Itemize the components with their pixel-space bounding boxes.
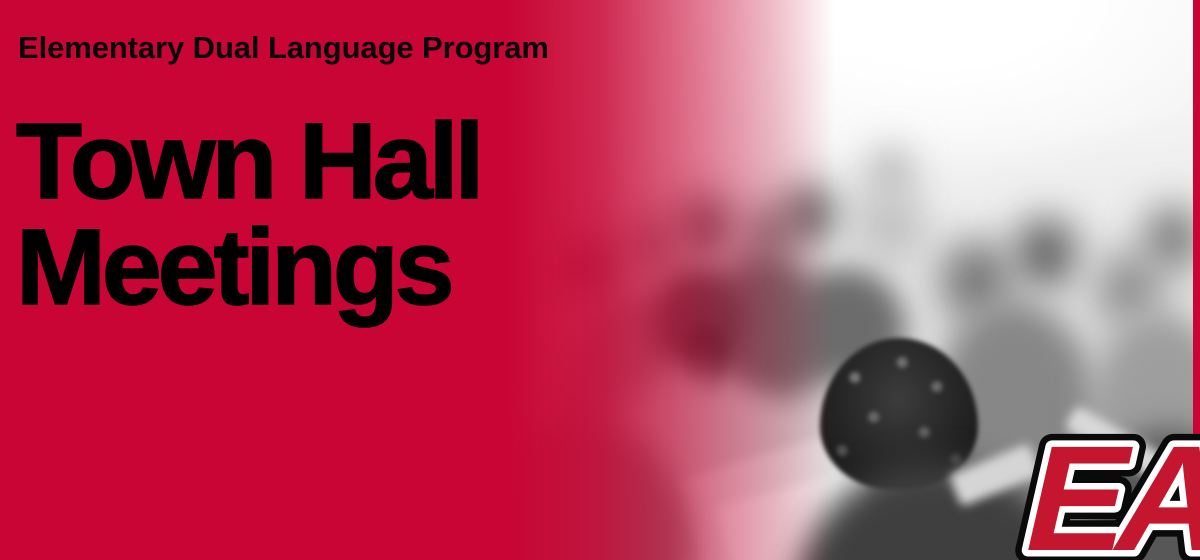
program-eyebrow: Elementary Dual Language Program — [18, 32, 549, 63]
ea-logo: EA EA EA — [1028, 424, 1200, 560]
headline-line-2: Meetings — [16, 214, 480, 320]
ea-logo-fill: EA — [1024, 414, 1200, 560]
page-title: Town Hall Meetings — [16, 108, 480, 320]
headline-line-1: Town Hall — [16, 108, 480, 214]
town-hall-meetings-banner: Elementary Dual Language Program Town Ha… — [0, 0, 1200, 560]
ea-logo-svg: EA EA EA — [1028, 424, 1200, 560]
